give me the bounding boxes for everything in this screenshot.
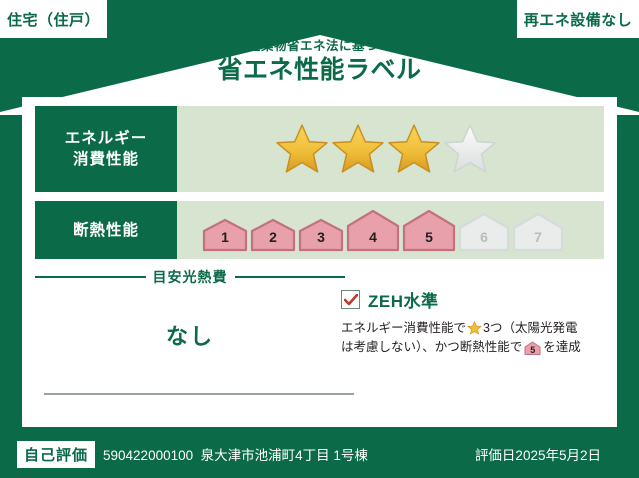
divider-left bbox=[35, 276, 146, 278]
utility-cost-header: 目安光熱費 bbox=[35, 267, 345, 287]
insulation-level-scale: 1234567 bbox=[202, 209, 564, 252]
insulation-level-number: 1 bbox=[202, 229, 248, 245]
insulation-level-1: 1 bbox=[202, 218, 248, 252]
label-card: エネルギー 消費性能 bbox=[22, 97, 617, 427]
zeh-title: ZEH水準 bbox=[368, 287, 439, 312]
utility-cost-rule bbox=[44, 393, 354, 395]
energy-performance-label-cell: エネルギー 消費性能 bbox=[35, 106, 177, 192]
star-icon-inline bbox=[467, 321, 482, 335]
zeh-checkbox[interactable] bbox=[341, 290, 360, 309]
insulation-level-3: 3 bbox=[298, 218, 344, 252]
insulation-level-number: 5 bbox=[402, 229, 456, 245]
insulation-performance-value-cell: 1234567 bbox=[177, 201, 604, 259]
star-rating bbox=[275, 123, 497, 175]
utility-cost-title: 目安光熱費 bbox=[153, 267, 228, 287]
energy-performance-row: エネルギー 消費性能 bbox=[35, 106, 604, 192]
utility-cost-block: 目安光熱費 なし bbox=[35, 267, 345, 351]
zeh-desc-house-level: 5 bbox=[524, 341, 541, 360]
insulation-level-5: 5 bbox=[402, 209, 456, 252]
zeh-desc-part4: を達成 bbox=[543, 340, 581, 354]
star-icon-empty-4 bbox=[443, 123, 497, 175]
insulation-level-number: 2 bbox=[250, 229, 296, 245]
star-icon-filled-3 bbox=[387, 123, 441, 175]
zeh-desc-part3: は考慮しない）、かつ断熱性能で bbox=[341, 340, 522, 354]
footer-bar: 自己評価 590422000100 泉大津市池浦町4丁目 1号棟 評価日2025… bbox=[0, 430, 639, 478]
insulation-level-number: 7 bbox=[512, 229, 564, 245]
evaluation-id: 590422000100 bbox=[103, 448, 193, 463]
star-icon-filled-1 bbox=[275, 123, 329, 175]
energy-performance-label: 住宅（住戸） 再エネ設備なし 建築物省エネ法に基づく 省エネ性能ラベル エネルギ… bbox=[0, 0, 639, 478]
insulation-level-2: 2 bbox=[250, 218, 296, 252]
zeh-desc-part2: 3つ（太陽光発電 bbox=[483, 321, 577, 335]
insulation-performance-row: 断熱性能 1234567 bbox=[35, 201, 604, 259]
energy-performance-value-cell bbox=[177, 106, 604, 192]
energy-label-line2: 消費性能 bbox=[65, 149, 148, 170]
insulation-level-6: 6 bbox=[458, 212, 510, 252]
insulation-performance-label-cell: 断熱性能 bbox=[35, 201, 177, 259]
insulation-level-number: 3 bbox=[298, 229, 344, 245]
zeh-desc-part1: エネルギー消費性能で bbox=[341, 321, 466, 335]
utility-cost-value: なし bbox=[35, 319, 345, 351]
insulation-level-number: 4 bbox=[346, 229, 400, 245]
divider-right bbox=[235, 276, 346, 278]
renewable-energy-tag: 再エネ設備なし bbox=[517, 0, 639, 38]
building-type-tag: 住宅（住戸） bbox=[0, 0, 107, 38]
label-subtitle: 建築物省エネ法に基づく bbox=[0, 38, 639, 54]
insulation-level-4: 4 bbox=[346, 209, 400, 252]
zeh-header: ZEH水準 bbox=[341, 287, 609, 312]
evaluation-type-badge: 自己評価 bbox=[17, 441, 95, 468]
title-block: 建築物省エネ法に基づく 省エネ性能ラベル bbox=[0, 38, 639, 86]
zeh-block: ZEH水準 エネルギー消費性能で3つ（太陽光発電は考慮しない）、かつ断熱性能で5… bbox=[341, 287, 609, 361]
house-icon-inline: 5 bbox=[524, 341, 541, 361]
label-title: 省エネ性能ラベル bbox=[0, 54, 639, 86]
check-icon bbox=[344, 294, 358, 306]
star-icon-filled-2 bbox=[331, 123, 385, 175]
zeh-description: エネルギー消費性能で3つ（太陽光発電は考慮しない）、かつ断熱性能で5を達成 bbox=[341, 319, 609, 361]
insulation-level-number: 6 bbox=[458, 229, 510, 245]
energy-label-line1: エネルギー bbox=[65, 128, 148, 149]
evaluation-date: 評価日2025年5月2日 bbox=[475, 444, 601, 464]
insulation-level-7: 7 bbox=[512, 212, 564, 252]
footer-identification: 590422000100 泉大津市池浦町4丁目 1号棟 bbox=[103, 444, 368, 464]
property-address: 泉大津市池浦町4丁目 1号棟 bbox=[201, 448, 368, 463]
